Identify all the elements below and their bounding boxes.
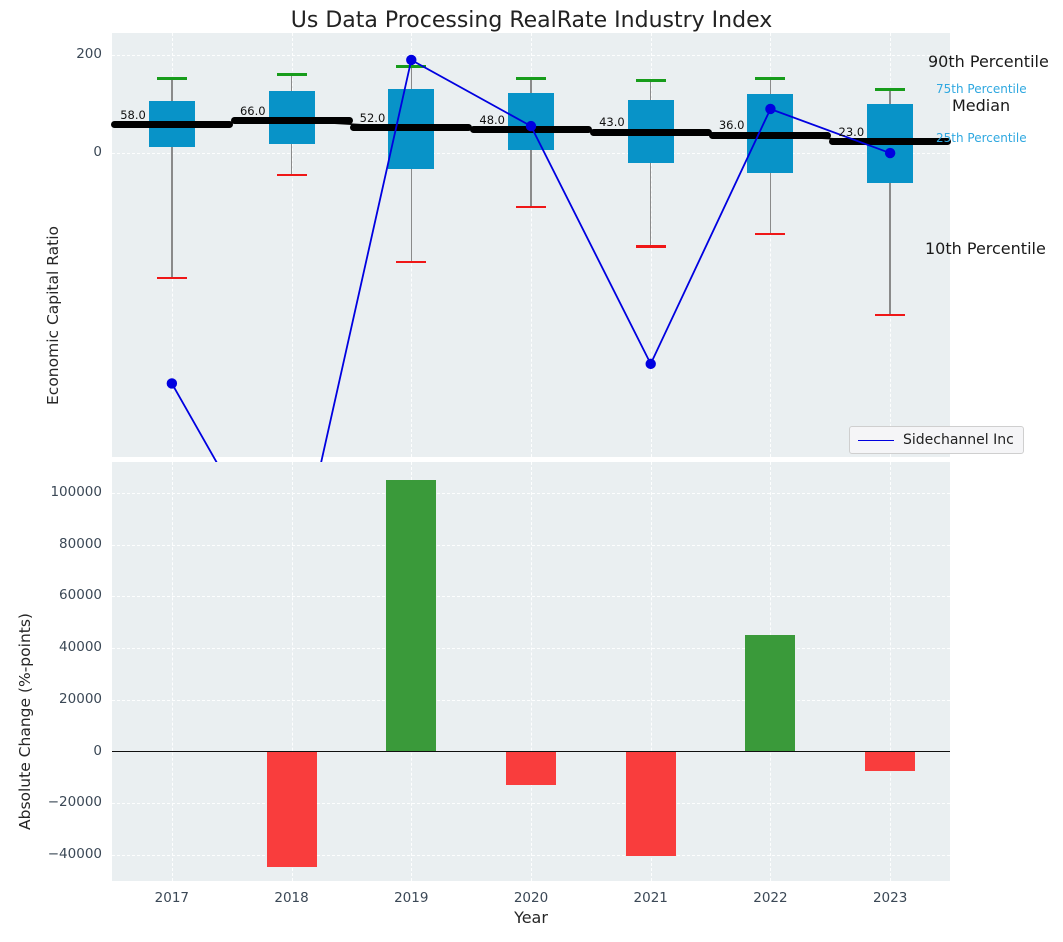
median-marker [111,121,233,128]
chart-title: Us Data Processing RealRate Industry Ind… [0,8,1063,33]
gridline-vertical [531,462,532,881]
x-tick-label: 2017 [132,890,212,906]
p90-cap [636,79,666,82]
median-value-label: 52.0 [285,111,385,125]
x-tick-label: 2020 [491,890,571,906]
y-tick-label: 0 [0,743,102,759]
p25-annotation: 25th Percentile [936,131,1027,145]
p10-cap [277,174,307,177]
top-y-axis-label: Economic Capital Ratio [44,75,62,405]
figure: Us Data Processing RealRate Industry Ind… [0,0,1063,942]
p75-annotation: 75th Percentile [936,82,1027,96]
median-value-label: 43.0 [525,115,625,129]
sidechannel-inc-legend-label: Sidechannel Inc [903,432,1014,448]
p10-cap [755,233,785,236]
p10-cap [516,206,546,209]
p90-cap [157,77,187,80]
p10-cap [636,245,666,248]
median-marker [829,138,951,145]
sidechannel-inc-legend-swatch [858,440,894,441]
y-tick-label: 100000 [0,484,102,500]
y-tick-label: 80000 [0,536,102,552]
median-value-label: 58.0 [46,108,146,122]
p90-cap [277,73,307,76]
y-tick-label: −20000 [0,794,102,810]
median-value-label: 36.0 [644,118,744,132]
change-bar [626,752,676,857]
p10-cap [396,261,426,264]
y-tick-label: 0 [50,144,102,160]
x-tick-label: 2019 [371,890,451,906]
change-bar [267,752,317,867]
chart-legend[interactable]: Sidechannel Inc [849,426,1024,454]
median-value-label: 48.0 [405,113,505,127]
p90-cap [755,77,785,80]
zero-baseline [112,751,950,753]
change-bar [745,635,795,751]
median-value-label: 66.0 [166,104,266,118]
x-tick-label: 2022 [730,890,810,906]
y-tick-label: 40000 [0,639,102,655]
y-tick-label: 20000 [0,691,102,707]
x-tick-label: 2018 [252,890,332,906]
x-tick-label: 2023 [850,890,930,906]
y-tick-label: 60000 [0,587,102,603]
p10-annotation: 10th Percentile [925,239,1046,258]
x-tick-label: 2021 [611,890,691,906]
p90-cap [875,88,905,91]
p90-cap [516,77,546,80]
p90-annotation: 90th Percentile [928,52,1049,71]
gridline-vertical [172,462,173,881]
p10-cap [157,277,187,280]
p10-cap [875,314,905,317]
y-tick-label: −40000 [0,846,102,862]
change-bar [506,752,556,786]
x-axis-label: Year [112,908,950,927]
y-tick-label: 200 [50,46,102,62]
change-bar [865,752,915,771]
median-annotation: Median [952,96,1010,115]
gridline-vertical [890,462,891,881]
bottom-y-axis-label: Absolute Change (%-points) [16,540,34,830]
change-bar [386,480,436,752]
p90-cap [396,65,426,68]
median-value-label: 23.0 [764,125,864,139]
